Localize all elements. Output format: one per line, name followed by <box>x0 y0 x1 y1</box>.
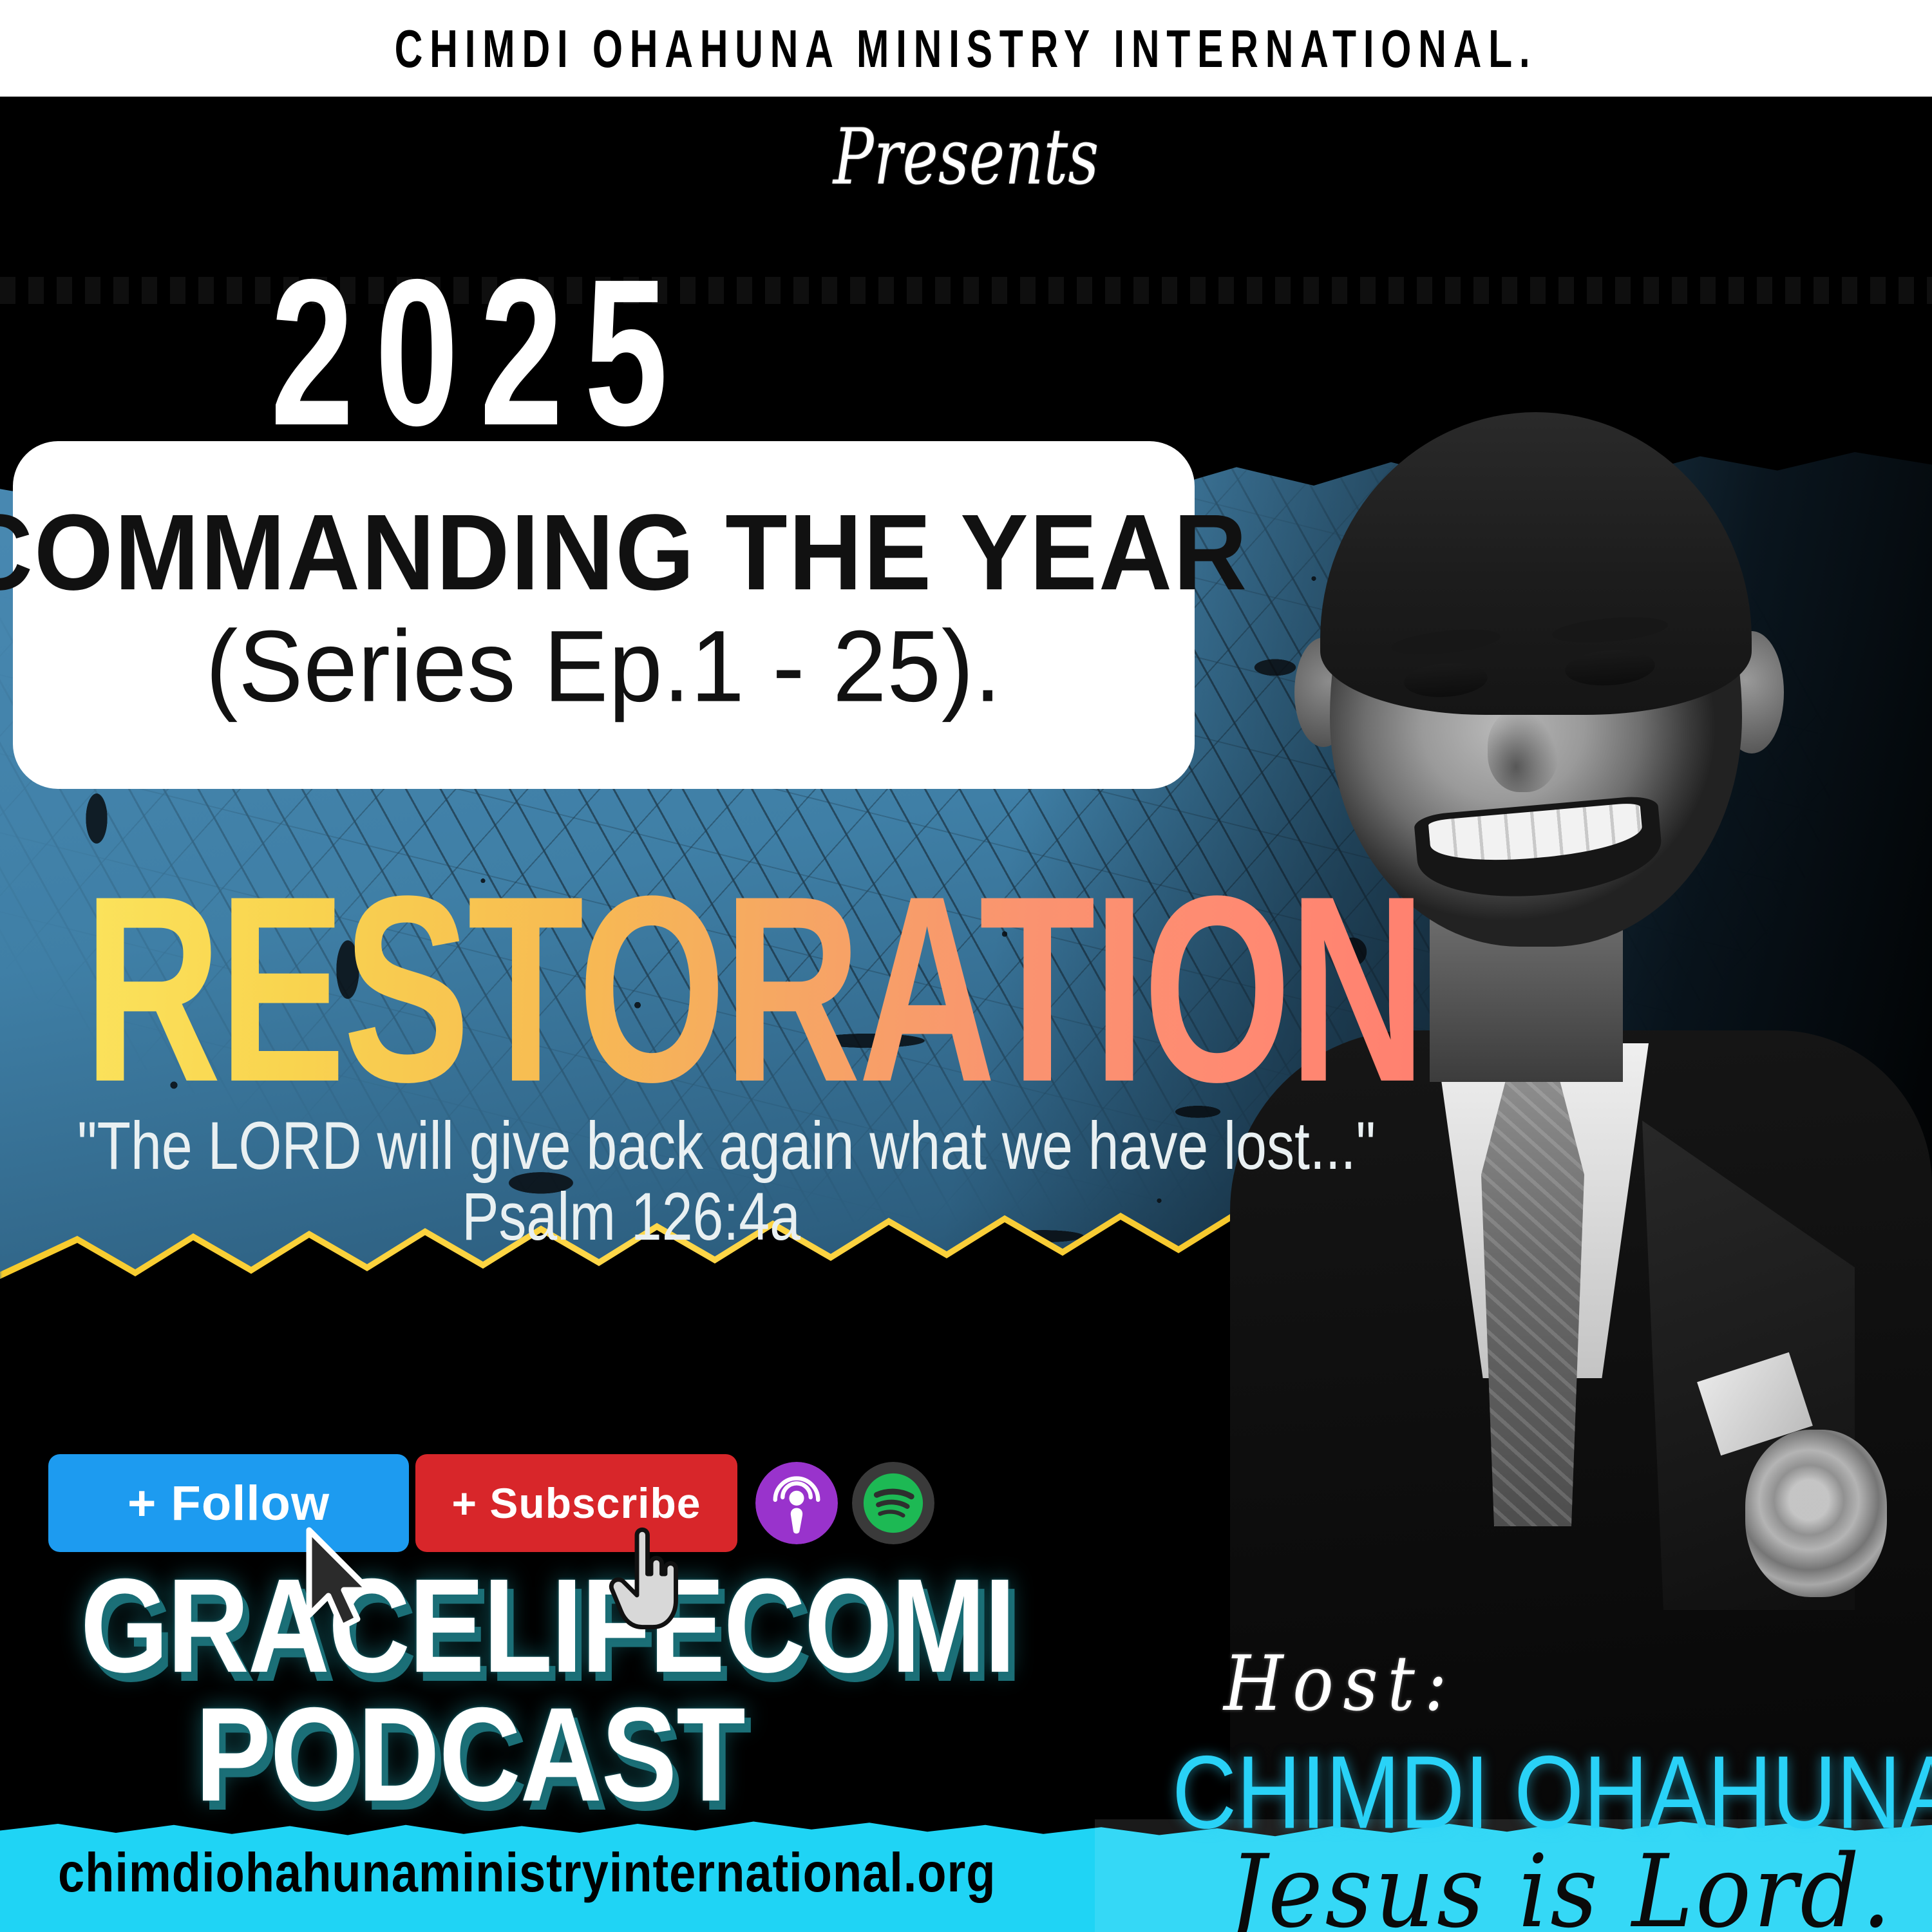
apple-podcasts-icon[interactable] <box>755 1462 838 1544</box>
pointing-hand-cursor-icon <box>609 1526 679 1636</box>
series-episode-range: (Series Ep.1 - 25). <box>205 613 1001 719</box>
ministry-header-strip: CHIMDI OHAHUNA MINISTRY INTERNATIONAL. <box>0 0 1932 97</box>
arrow-cursor-icon <box>301 1526 379 1642</box>
theme-word: RESTORATION <box>84 857 1424 1122</box>
host-label: Host: <box>1224 1639 1457 1728</box>
portrait-nose <box>1488 708 1558 792</box>
subscribe-button[interactable]: + Subscribe <box>415 1454 737 1552</box>
spotify-icon[interactable] <box>852 1462 934 1544</box>
presents-label: Presents <box>213 113 1719 202</box>
year-heading: 2025 <box>270 248 689 457</box>
cta-button-row: + Follow + Subscribe <box>48 1454 949 1552</box>
ministry-name: CHIMDI OHAHUNA MINISTRY INTERNATIONAL. <box>395 17 1537 79</box>
podcast-brand-line-2: PODCAST <box>0 1687 940 1824</box>
portrait-hair <box>1320 412 1752 715</box>
series-title-card: COMMANDING THE YEAR (Series Ep.1 - 25). <box>13 441 1195 789</box>
portrait-lapel-rose <box>1745 1430 1887 1597</box>
scripture-quote: "The LORD will give back again what we h… <box>77 1108 1256 1186</box>
podcast-cover-art: CHIMDI OHAHUNA MINISTRY INTERNATIONAL. P… <box>0 0 1932 1932</box>
scripture-reference: Psalm 126:4a <box>77 1179 1185 1256</box>
podcast-brand-line-1: GRACELIFECOMI <box>0 1558 1095 1695</box>
host-name: CHIMDI OHAHUNA <box>1172 1732 1932 1852</box>
website-url[interactable]: chimdiohahunaministryinternational.org <box>58 1841 996 1905</box>
series-title: COMMANDING THE YEAR <box>0 497 1248 610</box>
